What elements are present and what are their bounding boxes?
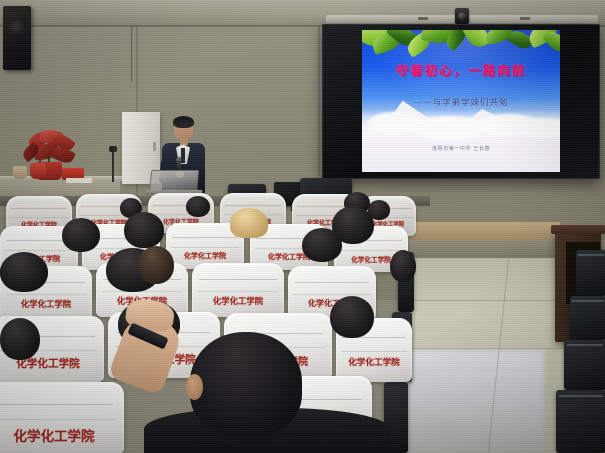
- foreground-attendee: [150, 330, 380, 453]
- mic-stand: [112, 150, 114, 182]
- auditorium-seat: 化学化工学院: [0, 382, 124, 453]
- slide-subtitle: ——与学弟学妹们共勉: [362, 96, 560, 108]
- rail-tag-right: [520, 17, 530, 20]
- wall-wire: [131, 26, 132, 82]
- paper-stack: [66, 178, 92, 183]
- lecture-hall-photo: 守着初心，一路向前 ——与学弟学妹们共勉 洛阳市第一中学 王长春: [0, 0, 605, 453]
- plant-pot: [13, 166, 27, 179]
- audience-head-with-cap: [230, 208, 268, 238]
- presentation-slide: 守着初心，一路向前 ——与学弟学妹们共勉 洛阳市第一中学 王长春: [362, 30, 560, 172]
- folded-chair: [556, 390, 605, 453]
- floor-light-reflection: [404, 350, 544, 453]
- projector-sensor-icon: [455, 8, 469, 24]
- audience-head: [138, 246, 174, 284]
- plant-pot: [30, 163, 46, 179]
- audience-head: [0, 318, 40, 360]
- audience-head: [390, 250, 416, 282]
- folded-chair: [564, 340, 605, 390]
- side-desk: [400, 222, 560, 242]
- audience-head: [124, 212, 164, 248]
- folded-chair: [570, 296, 605, 340]
- wall-speaker-icon: [3, 6, 31, 70]
- wall-seam-right: [318, 26, 320, 176]
- slide-title: 守着初心，一路向前: [362, 60, 560, 79]
- audience-head: [186, 196, 210, 217]
- cloud: [520, 118, 560, 138]
- cloud: [414, 116, 484, 140]
- seat-label: 化学化工学院: [166, 251, 244, 261]
- seat-label: 化学化工学院: [192, 295, 284, 307]
- seat-label: 化学化工学院: [0, 425, 124, 445]
- auditorium-seat: 化学化工学院: [192, 263, 284, 317]
- audience-head: [0, 252, 48, 292]
- audience-head: [62, 218, 100, 252]
- audience-head: [302, 228, 342, 262]
- slide-byline: 洛阳市第一中学 王长春: [362, 145, 560, 152]
- seat-label: 化学化工学院: [0, 298, 92, 310]
- rail-tag-left: [418, 17, 428, 20]
- folded-chair: [576, 250, 605, 296]
